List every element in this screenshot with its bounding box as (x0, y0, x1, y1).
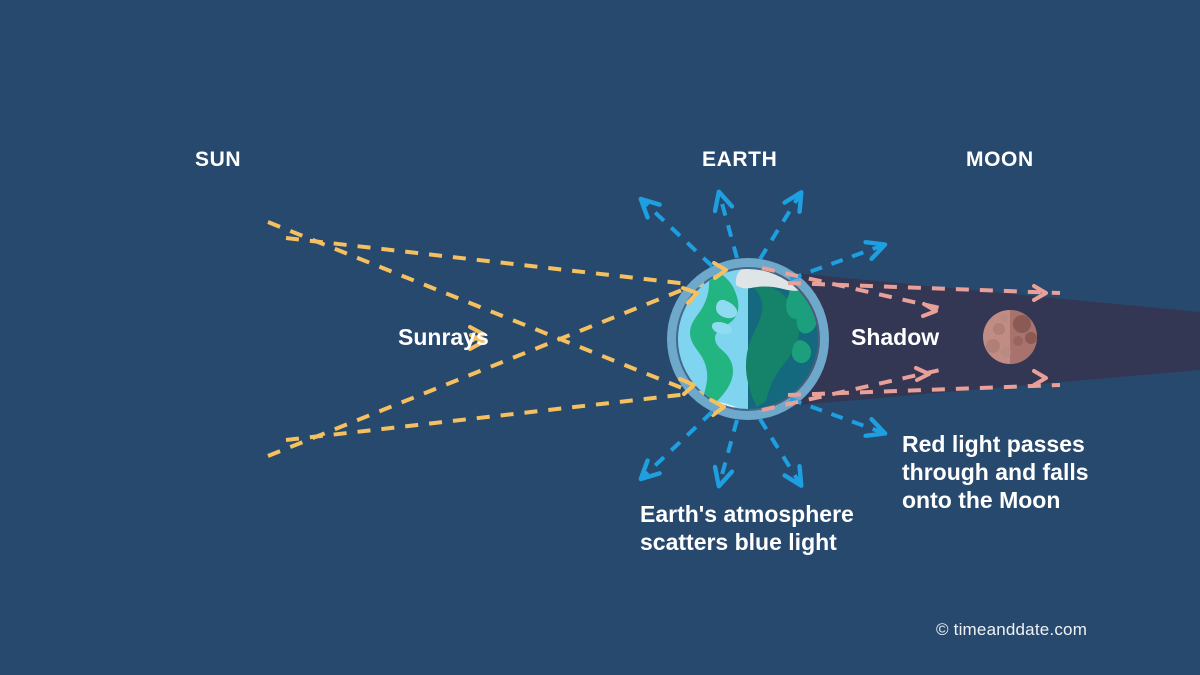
sunray-top-to-top (286, 238, 706, 286)
earth-body (667, 258, 829, 420)
earth-globe (678, 269, 818, 410)
moon-crater-7 (1000, 314, 1008, 322)
credit-label: © timeanddate.com (936, 620, 1087, 640)
scatter-arrow-up-left (644, 202, 712, 266)
scatter-arrow-up-right (760, 196, 799, 259)
sunray-bottom-to-bottom (286, 392, 706, 440)
atmosphere-note: Earth's atmosphere scatters blue light (640, 500, 854, 556)
moon-crater-6 (1001, 347, 1011, 357)
scatter-arrow-up-mid (720, 196, 737, 258)
sunrays-label: Sunrays (398, 324, 489, 351)
sunrays-group (268, 222, 722, 456)
moon-crater-2 (1025, 332, 1037, 344)
scatter-arrow-down-right (760, 419, 799, 482)
scatter-arrow-down-mid (720, 420, 737, 482)
sunray-top-to-bottom (268, 222, 722, 404)
sunray-bottom-to-top (268, 274, 722, 456)
moon-label: MOON (966, 148, 1034, 173)
moon-crater-3 (1013, 336, 1023, 346)
moon-crater-1 (1013, 315, 1031, 333)
diagram-canvas (0, 0, 1200, 675)
lunar-eclipse-diagram: SUN EARTH MOON Sunrays Shadow Earth's at… (0, 0, 1200, 675)
moon-body (983, 310, 1037, 364)
shadow-label: Shadow (851, 324, 939, 351)
moon-crater-5 (986, 339, 1000, 353)
red-light-note: Red light passes through and falls onto … (902, 430, 1089, 514)
earth-label: EARTH (702, 148, 777, 173)
scatter-arrow-down-left (644, 412, 712, 476)
sun-label: SUN (195, 148, 241, 173)
moon-crater-4 (993, 323, 1005, 335)
